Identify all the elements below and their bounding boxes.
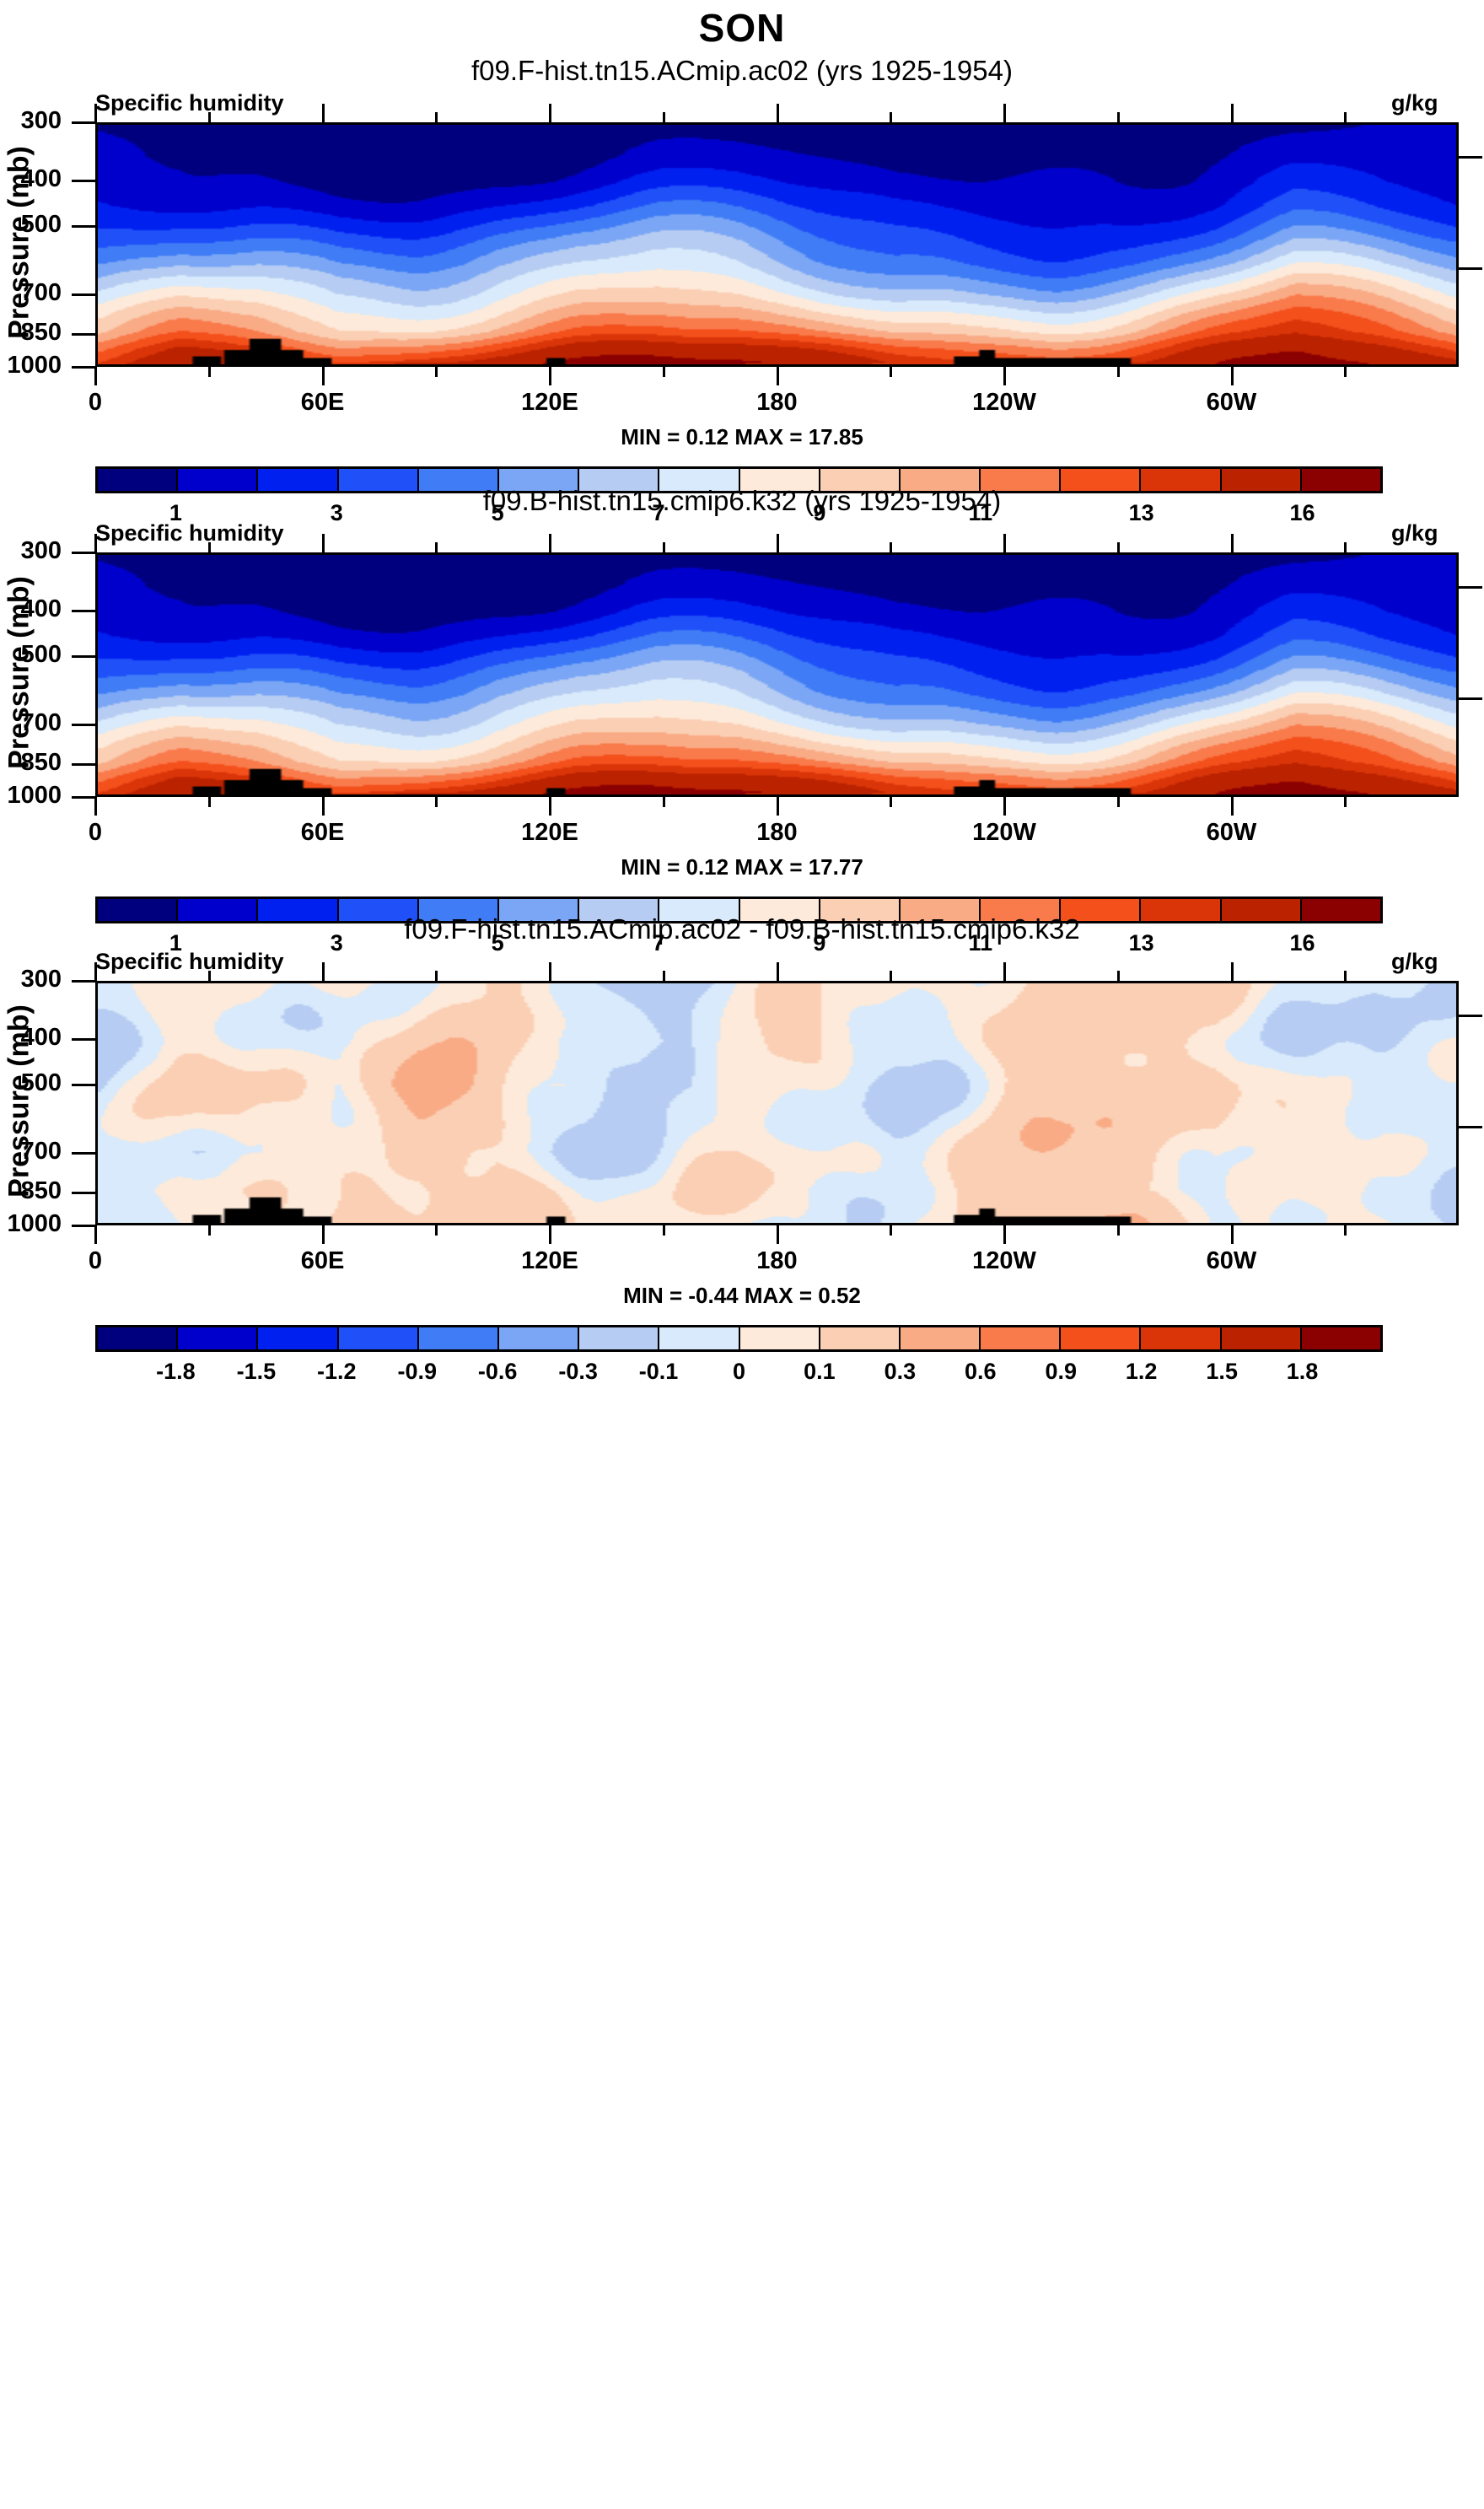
y-tick-label: 700 — [0, 1138, 62, 1166]
x-minor-tick-mark — [435, 367, 438, 377]
x-top-minor-tick-mark — [208, 971, 211, 981]
x-tick-label: 120E — [491, 389, 609, 417]
x-tick-mark — [549, 367, 551, 385]
x-tick-label: 180 — [718, 819, 836, 847]
y-tick-mark — [72, 980, 95, 983]
y-tick-mark — [72, 225, 95, 228]
x-tick-mark — [1231, 367, 1234, 385]
x-tick-label: 60E — [264, 819, 382, 847]
x-top-minor-tick-mark — [208, 542, 211, 552]
y2-tick-mark — [1459, 586, 1482, 589]
x-tick-label: 0 — [36, 1247, 154, 1275]
y-tick-mark — [72, 796, 95, 799]
min-max-annotation: MIN = 0.12 MAX = 17.77 — [0, 854, 1484, 880]
colorbar-tick-label: -0.1 — [639, 1359, 679, 1385]
y-tick-mark — [72, 366, 95, 369]
x-tick-label: 180 — [718, 389, 836, 417]
x-top-minor-tick-mark — [663, 112, 665, 122]
colorbar-swatch — [1141, 1327, 1221, 1349]
x-tick-mark — [322, 367, 325, 385]
x-top-minor-tick-mark — [663, 971, 665, 981]
y2-tick-mark — [1459, 156, 1482, 159]
x-tick-label: 120W — [945, 389, 1063, 417]
x-minor-tick-mark — [890, 367, 892, 377]
colorbar-tick-label: -0.3 — [558, 1359, 598, 1385]
plot-area — [95, 122, 1459, 367]
x-tick-mark — [322, 797, 325, 816]
x-top-minor-tick-mark — [890, 971, 892, 981]
x-minor-tick-mark — [435, 1225, 438, 1236]
x-top-minor-tick-mark — [663, 542, 665, 552]
x-top-tick-mark — [322, 534, 325, 552]
colorbar-swatch — [901, 1327, 981, 1349]
variable-label: Specific humidity — [95, 949, 284, 975]
x-minor-tick-mark — [435, 797, 438, 807]
y-tick-mark — [72, 655, 95, 658]
colorbar-swatch — [659, 1327, 739, 1349]
x-top-minor-tick-mark — [435, 112, 438, 122]
x-top-minor-tick-mark — [1344, 112, 1347, 122]
x-tick-mark — [1231, 1225, 1234, 1244]
colorbar-tick-label: 0.1 — [804, 1359, 836, 1385]
y2-tick-mark — [1459, 267, 1482, 270]
y-tick-label: 1000 — [0, 782, 62, 810]
colorbar-swatch — [1061, 1327, 1141, 1349]
x-minor-tick-mark — [1117, 367, 1120, 377]
x-tick-mark — [777, 367, 779, 385]
x-tick-mark — [1003, 1225, 1006, 1244]
x-minor-tick-mark — [1344, 1225, 1347, 1236]
panel-title: f09.F-hist.tn15.ACmip.ac02 - f09.B-hist.… — [0, 913, 1484, 945]
x-tick-label: 0 — [36, 389, 154, 417]
colorbar-tick-label: 0.9 — [1045, 1359, 1077, 1385]
y-tick-label: 850 — [0, 749, 62, 777]
y-tick-mark — [72, 121, 95, 124]
x-top-tick-mark — [1003, 962, 1006, 981]
colorbar-labels: -1.8-1.5-1.2-0.9-0.6-0.3-0.100.10.30.60.… — [95, 1359, 1383, 1392]
colorbar[interactable] — [95, 1325, 1383, 1352]
colorbar-tick-label: -0.9 — [397, 1359, 437, 1385]
x-top-tick-mark — [549, 104, 551, 122]
colorbar-tick-label: -1.5 — [237, 1359, 277, 1385]
x-minor-tick-mark — [208, 797, 211, 807]
x-tick-label: 120W — [945, 1247, 1063, 1275]
x-tick-mark — [777, 1225, 779, 1244]
y-tick-mark — [72, 1084, 95, 1086]
x-minor-tick-mark — [1117, 1225, 1120, 1236]
x-top-minor-tick-mark — [1117, 971, 1120, 981]
y-tick-label: 700 — [0, 709, 62, 737]
colorbar-swatch — [258, 1327, 338, 1349]
x-top-tick-mark — [1231, 534, 1234, 552]
x-tick-mark — [94, 797, 97, 816]
season-title: SON — [0, 5, 1484, 51]
y-tick-mark — [72, 1225, 95, 1227]
colorbar-tick-label: 1.2 — [1126, 1359, 1158, 1385]
colorbar-tick-label: 0.3 — [884, 1359, 917, 1385]
y-tick-mark — [72, 1192, 95, 1194]
x-top-tick-mark — [94, 962, 97, 981]
x-minor-tick-mark — [1344, 367, 1347, 377]
x-tick-label: 60W — [1173, 389, 1291, 417]
y-tick-label: 300 — [0, 966, 62, 993]
x-tick-mark — [322, 1225, 325, 1244]
colorbar-swatch — [499, 1327, 579, 1349]
x-tick-label: 120E — [491, 819, 609, 847]
y-tick-label: 850 — [0, 319, 62, 347]
x-minor-tick-mark — [1117, 797, 1120, 807]
x-tick-mark — [94, 367, 97, 385]
x-tick-label: 60E — [264, 389, 382, 417]
colorbar-swatch — [419, 1327, 499, 1349]
units-label: g/kg — [1391, 949, 1438, 975]
x-top-minor-tick-mark — [890, 112, 892, 122]
y-tick-mark — [72, 333, 95, 336]
contour-field — [98, 555, 1456, 794]
colorbar-swatch — [579, 1327, 659, 1349]
plot-area — [95, 552, 1459, 797]
y-tick-mark — [72, 610, 95, 612]
x-tick-label: 120E — [491, 1247, 609, 1275]
colorbar-swatch — [820, 1327, 901, 1349]
x-top-minor-tick-mark — [435, 542, 438, 552]
colorbar-tick-label: 0.6 — [965, 1359, 997, 1385]
x-tick-mark — [1003, 367, 1006, 385]
contour-field — [98, 125, 1456, 364]
x-minor-tick-mark — [663, 797, 665, 807]
x-top-minor-tick-mark — [1344, 971, 1347, 981]
x-tick-label: 180 — [718, 1247, 836, 1275]
panel-title: f09.F-hist.tn15.ACmip.ac02 (yrs 1925-195… — [0, 55, 1484, 87]
y-tick-label: 500 — [0, 641, 62, 669]
x-top-minor-tick-mark — [890, 542, 892, 552]
colorbar-swatch — [1222, 1327, 1302, 1349]
x-top-tick-mark — [1003, 534, 1006, 552]
y-tick-mark — [72, 293, 95, 296]
x-top-minor-tick-mark — [1344, 542, 1347, 552]
plot-area — [95, 981, 1459, 1225]
colorbar-tick-label: 1.5 — [1206, 1359, 1238, 1385]
x-minor-tick-mark — [663, 367, 665, 377]
y-tick-label: 1000 — [0, 352, 62, 380]
y-tick-label: 300 — [0, 537, 62, 565]
x-top-tick-mark — [94, 104, 97, 122]
x-minor-tick-mark — [208, 367, 211, 377]
x-minor-tick-mark — [890, 1225, 892, 1236]
x-top-tick-mark — [777, 962, 779, 981]
x-minor-tick-mark — [1344, 797, 1347, 807]
y2-tick-mark — [1459, 1126, 1482, 1128]
y-tick-label: 700 — [0, 279, 62, 307]
x-tick-label: 0 — [36, 819, 154, 847]
x-top-minor-tick-mark — [1117, 542, 1120, 552]
min-max-annotation: MIN = 0.12 MAX = 17.85 — [0, 424, 1484, 450]
colorbar-swatch — [339, 1327, 419, 1349]
y-tick-label: 400 — [0, 595, 62, 623]
y2-tick-mark — [1459, 1015, 1482, 1017]
x-tick-mark — [549, 1225, 551, 1244]
colorbar-tick-label: -0.6 — [478, 1359, 518, 1385]
x-top-tick-mark — [1003, 104, 1006, 122]
y-tick-mark — [72, 1038, 95, 1041]
contour-field — [98, 983, 1456, 1223]
colorbar-tick-label: -1.8 — [156, 1359, 196, 1385]
x-tick-mark — [777, 797, 779, 816]
colorbar-swatch — [1302, 1327, 1380, 1349]
x-tick-mark — [1231, 797, 1234, 816]
x-top-tick-mark — [777, 534, 779, 552]
units-label: g/kg — [1391, 520, 1438, 546]
x-top-tick-mark — [549, 534, 551, 552]
colorbar-tick-label: 0 — [733, 1359, 745, 1385]
y-tick-label: 500 — [0, 211, 62, 239]
y-tick-label: 400 — [0, 165, 62, 193]
colorbar-swatch — [740, 1327, 820, 1349]
x-tick-label: 60W — [1173, 1247, 1291, 1275]
x-tick-label: 60W — [1173, 819, 1291, 847]
y2-tick-mark — [1459, 697, 1482, 700]
colorbar-tick-label: 1.8 — [1287, 1359, 1319, 1385]
min-max-annotation: MIN = -0.44 MAX = 0.52 — [0, 1283, 1484, 1309]
x-top-tick-mark — [1231, 104, 1234, 122]
y-tick-mark — [72, 763, 95, 766]
colorbar-tick-label: -1.2 — [317, 1359, 357, 1385]
y-tick-label: 500 — [0, 1069, 62, 1097]
x-top-tick-mark — [322, 104, 325, 122]
x-tick-label: 60E — [264, 1247, 382, 1275]
x-top-tick-mark — [777, 104, 779, 122]
y-tick-mark — [72, 1152, 95, 1155]
x-top-tick-mark — [549, 962, 551, 981]
x-top-tick-mark — [322, 962, 325, 981]
y-tick-mark — [72, 724, 95, 726]
y-tick-label: 400 — [0, 1024, 62, 1052]
y-tick-mark — [72, 552, 95, 554]
y-tick-mark — [72, 180, 95, 182]
colorbar-swatch — [981, 1327, 1061, 1349]
x-top-minor-tick-mark — [208, 112, 211, 122]
colorbar-swatch — [98, 1327, 178, 1349]
x-minor-tick-mark — [890, 797, 892, 807]
panel-title: f09.B-hist.tn15.cmip6.k32 (yrs 1925-1954… — [0, 485, 1484, 517]
x-tick-mark — [549, 797, 551, 816]
y-tick-label: 300 — [0, 107, 62, 135]
x-top-minor-tick-mark — [435, 971, 438, 981]
variable-label: Specific humidity — [95, 520, 284, 546]
x-top-tick-mark — [94, 534, 97, 552]
y-tick-label: 850 — [0, 1177, 62, 1205]
colorbar-swatch — [178, 1327, 258, 1349]
variable-label: Specific humidity — [95, 90, 284, 116]
y-tick-label: 1000 — [0, 1210, 62, 1238]
x-minor-tick-mark — [663, 1225, 665, 1236]
x-minor-tick-mark — [208, 1225, 211, 1236]
x-tick-label: 120W — [945, 819, 1063, 847]
x-top-minor-tick-mark — [1117, 112, 1120, 122]
x-tick-mark — [94, 1225, 97, 1244]
x-top-tick-mark — [1231, 962, 1234, 981]
x-tick-mark — [1003, 797, 1006, 816]
units-label: g/kg — [1391, 90, 1438, 116]
